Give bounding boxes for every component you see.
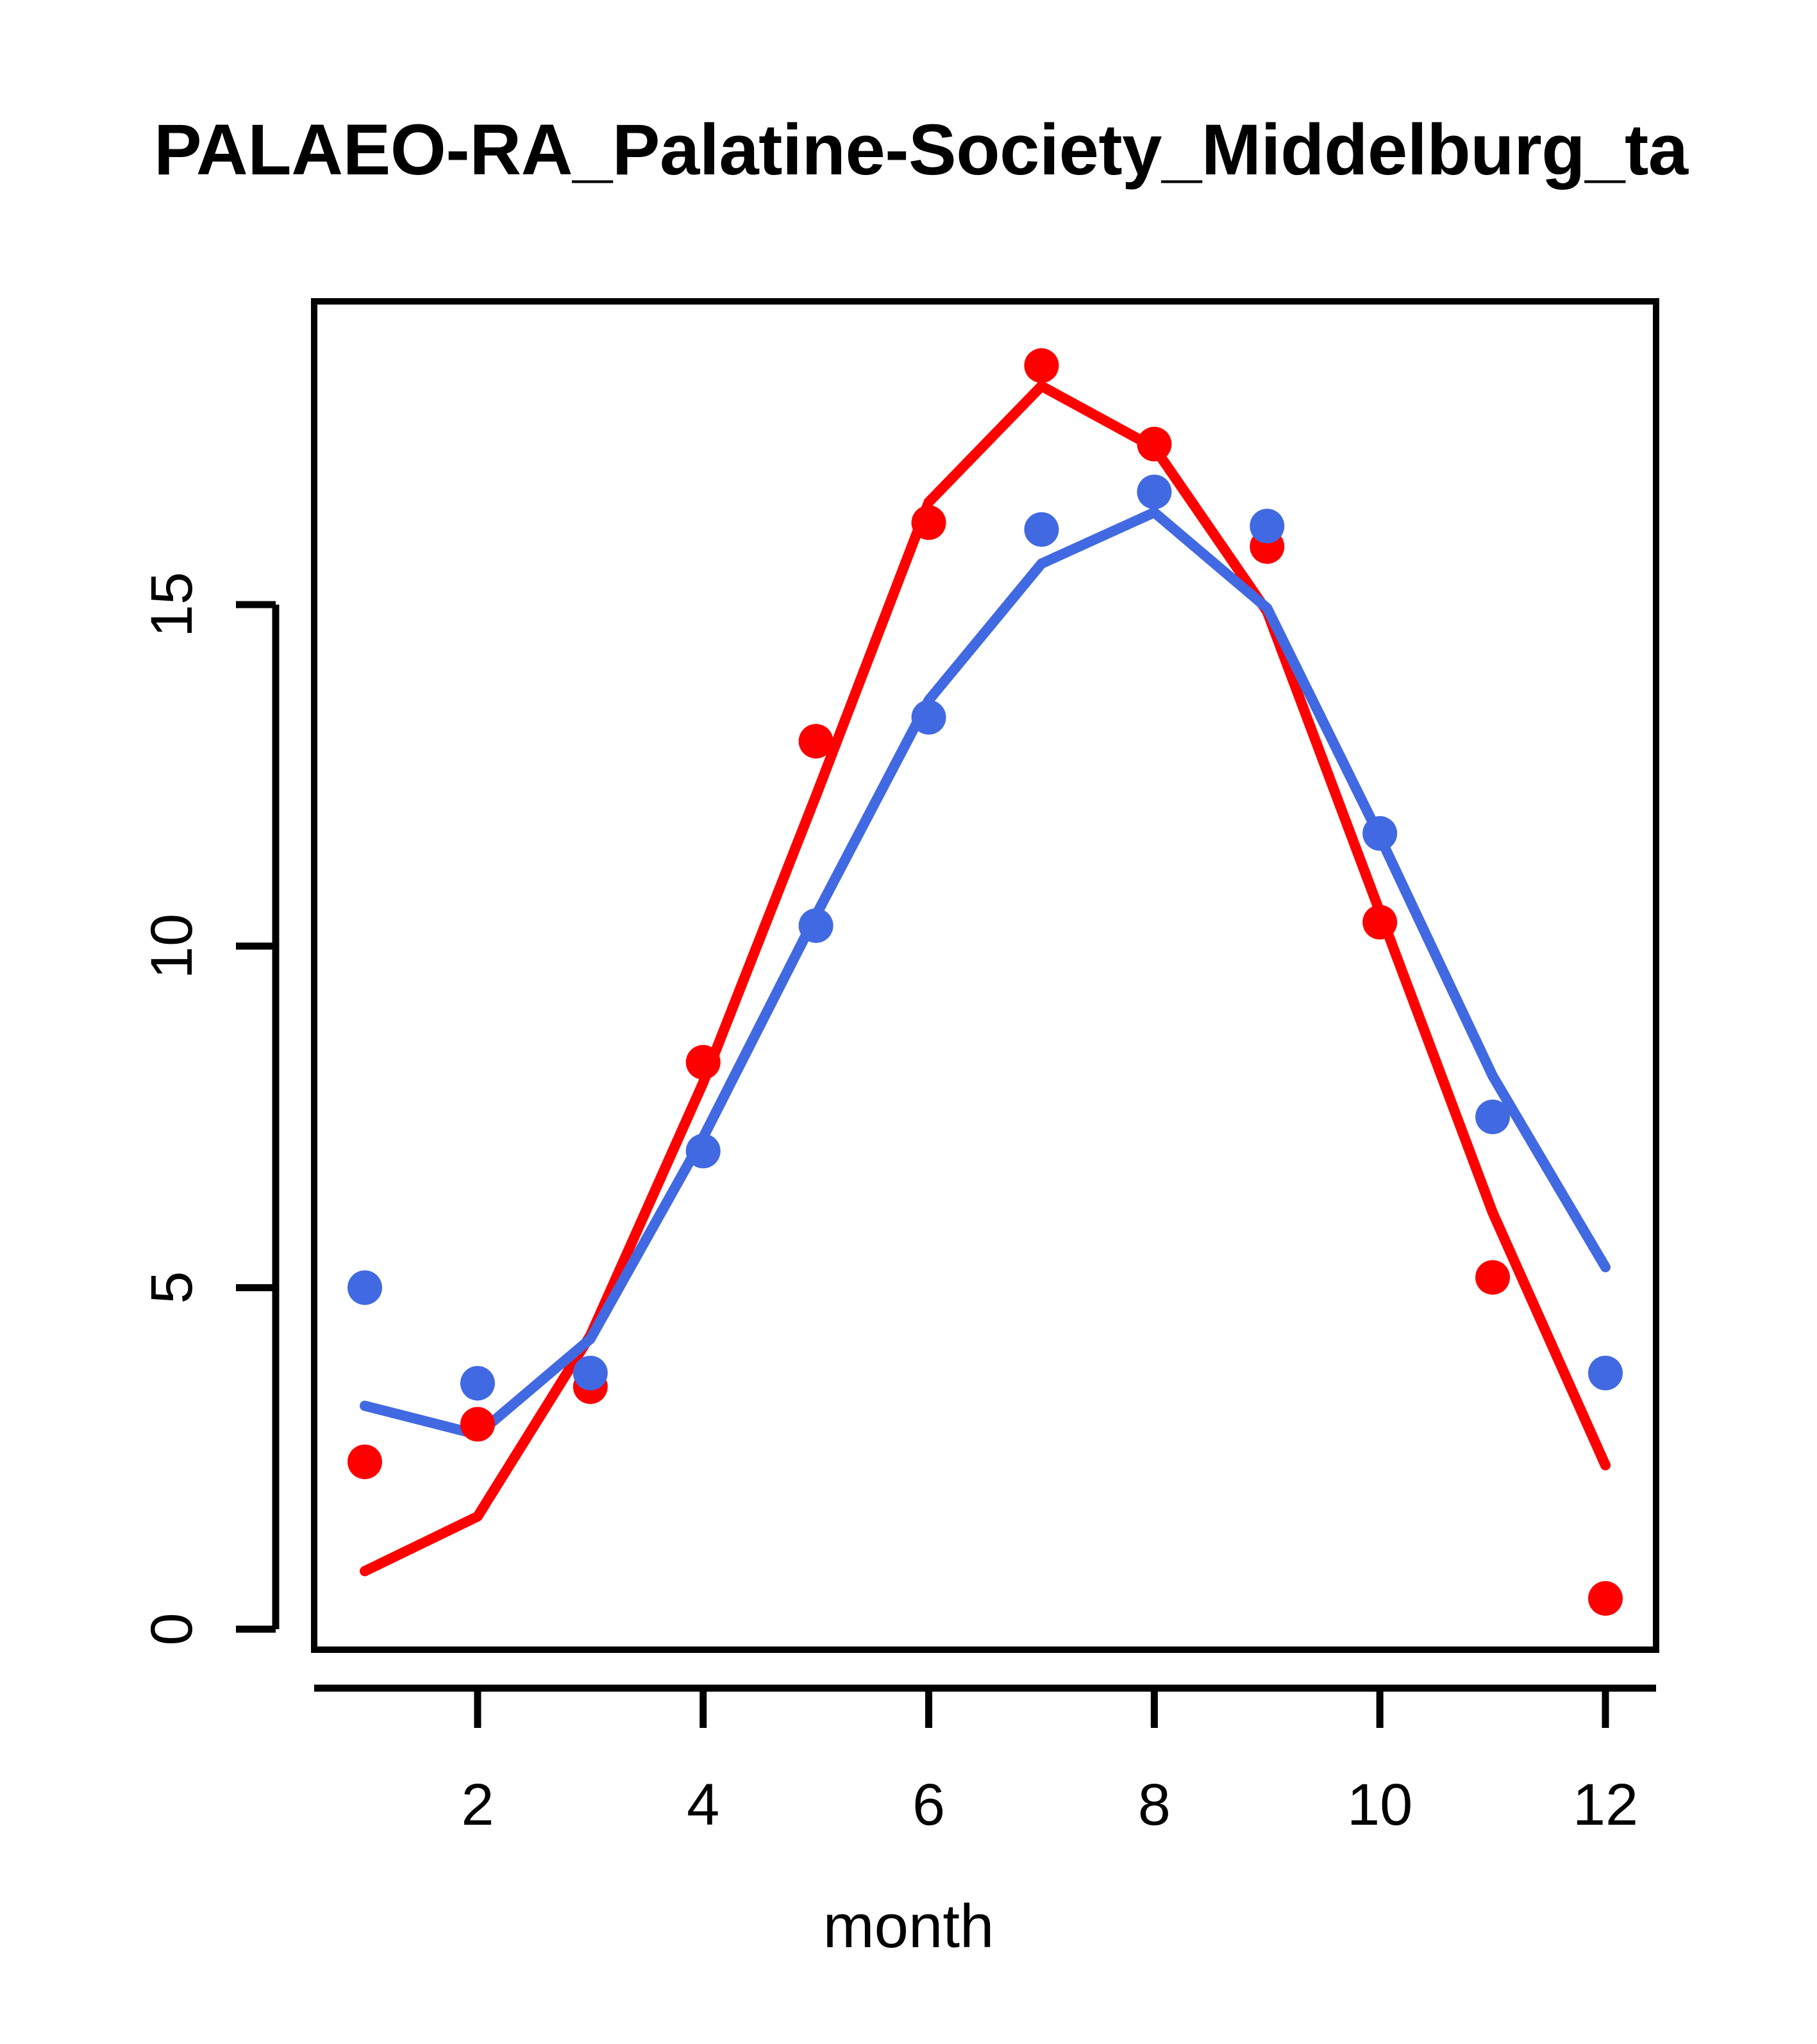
y-tick-label: 5 xyxy=(137,1217,207,1358)
y-tick-label: 15 xyxy=(137,534,207,675)
plot-area xyxy=(0,0,1817,2044)
data-point-blue-points xyxy=(1475,1100,1510,1134)
data-point-red-points xyxy=(1475,1260,1510,1294)
data-point-blue-points xyxy=(912,700,946,735)
data-point-blue-points xyxy=(573,1356,608,1391)
series-group xyxy=(347,348,1623,1616)
data-point-blue-points xyxy=(460,1366,495,1400)
x-tick-label: 2 xyxy=(394,1766,561,1843)
data-point-red-points xyxy=(347,1445,382,1479)
data-point-red-points xyxy=(1588,1581,1623,1616)
y-tick-label: 10 xyxy=(137,876,207,1017)
data-point-blue-points xyxy=(1362,816,1397,851)
page-title: PALAEO-RA_Palatine-Society_Middelburg_ta xyxy=(154,112,1817,188)
data-point-blue-points xyxy=(1137,474,1171,509)
data-point-red-points xyxy=(1137,427,1171,462)
data-point-blue-points xyxy=(1588,1356,1623,1391)
x-tick-label: 4 xyxy=(620,1766,787,1843)
x-tick-label: 8 xyxy=(1071,1766,1237,1843)
x-axis-label: month xyxy=(0,1891,1817,1962)
x-tick-label: 6 xyxy=(846,1766,1012,1843)
data-point-blue-points xyxy=(347,1270,382,1305)
data-point-red-points xyxy=(1362,905,1397,939)
x-tick-label: 10 xyxy=(1296,1766,1463,1843)
plot-box-border xyxy=(314,301,1656,1650)
data-point-red-points xyxy=(799,724,833,758)
data-point-red-points xyxy=(686,1045,721,1080)
axes-group xyxy=(236,301,1656,1728)
data-point-red-points xyxy=(912,505,946,540)
y-tick-label: 0 xyxy=(137,1559,207,1700)
series-line-red-line xyxy=(365,386,1605,1571)
data-point-red-points xyxy=(1250,529,1284,564)
data-point-blue-points xyxy=(1250,508,1284,543)
data-point-blue-points xyxy=(686,1134,721,1168)
series-line-blue-line xyxy=(365,512,1605,1434)
chart-canvas: PALAEO-RA_Palatine-Society_Middelburg_ta… xyxy=(0,0,1817,2044)
data-point-red-points xyxy=(573,1370,608,1404)
data-point-blue-points xyxy=(799,909,833,943)
x-tick-label: 12 xyxy=(1522,1766,1689,1843)
data-point-blue-points xyxy=(1024,512,1059,547)
data-point-red-points xyxy=(460,1407,495,1441)
data-point-red-points xyxy=(1024,348,1059,383)
